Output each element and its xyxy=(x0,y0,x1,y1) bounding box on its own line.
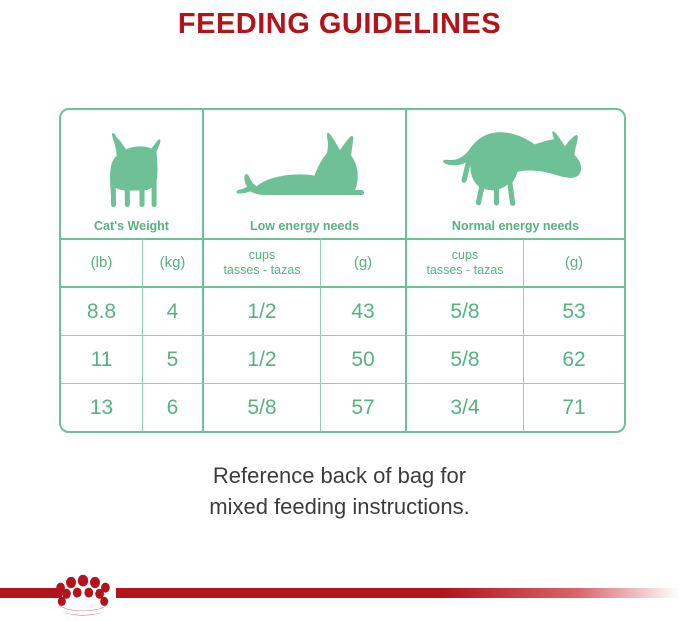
table-header-row: Cat's Weight Low energy needs xyxy=(61,110,624,238)
cell-kg: 6 xyxy=(142,383,202,431)
brand-bar-right-segment xyxy=(116,588,679,598)
table-row: 11 5 1/2 50 5/8 62 xyxy=(61,335,624,383)
walking-cat-icon xyxy=(441,131,591,211)
unit-low-cups-line2: tasses - tazas xyxy=(204,263,320,278)
table-row: 13 6 5/8 57 3/4 71 xyxy=(61,383,624,431)
cell-lb: 13 xyxy=(61,383,142,431)
page-title: FEEDING GUIDELINES xyxy=(0,0,679,42)
unit-cell-normal-grams: (g) xyxy=(523,238,624,286)
header-cell-low-energy: Low energy needs xyxy=(202,110,405,238)
cell-lb: 8.8 xyxy=(61,286,142,335)
feeding-guidelines-table: Cat's Weight Low energy needs xyxy=(59,108,622,432)
footnote: Reference back of bag for mixed feeding … xyxy=(0,460,679,522)
cell-kg: 5 xyxy=(142,335,202,383)
cell-low-cups: 1/2 xyxy=(202,335,320,383)
cell-low-grams: 57 xyxy=(320,383,405,431)
unit-cell-low-grams: (g) xyxy=(320,238,405,286)
cell-normal-grams: 62 xyxy=(523,335,624,383)
header-label-low-energy: Low energy needs xyxy=(250,219,359,233)
cell-lb: 11 xyxy=(61,335,142,383)
cell-kg: 4 xyxy=(142,286,202,335)
table-row: 8.8 4 1/2 43 5/8 53 xyxy=(61,286,624,335)
unit-cell-normal-cups: cups tasses - tazas xyxy=(405,238,523,286)
header-cell-cats-weight: Cat's Weight xyxy=(61,110,202,238)
header-label-cats-weight: Cat's Weight xyxy=(94,219,169,233)
cell-low-cups: 1/2 xyxy=(202,286,320,335)
header-label-normal-energy: Normal energy needs xyxy=(452,219,579,233)
cell-normal-cups: 5/8 xyxy=(405,286,523,335)
cell-low-grams: 43 xyxy=(320,286,405,335)
cell-normal-grams: 53 xyxy=(523,286,624,335)
cell-normal-cups: 3/4 xyxy=(405,383,523,431)
unit-cell-kg: (kg) xyxy=(142,238,202,286)
cell-low-cups: 5/8 xyxy=(202,383,320,431)
unit-cell-lb: (lb) xyxy=(61,238,142,286)
header-cell-normal-energy: Normal energy needs xyxy=(405,110,624,238)
cell-normal-cups: 5/8 xyxy=(405,335,523,383)
cell-normal-grams: 71 xyxy=(523,383,624,431)
brand-bar xyxy=(0,568,679,616)
footnote-line-2: mixed feeding instructions. xyxy=(0,491,679,522)
unit-normal-cups-line1: cups xyxy=(407,248,523,263)
unit-low-cups-line1: cups xyxy=(204,248,320,263)
royal-canin-crown-icon xyxy=(48,570,118,616)
table-units-row: (lb) (kg) cups tasses - tazas (g) cups t… xyxy=(61,238,624,286)
cell-low-grams: 50 xyxy=(320,335,405,383)
footnote-line-1: Reference back of bag for xyxy=(0,460,679,491)
lying-cat-icon xyxy=(235,131,375,211)
unit-normal-cups-line2: tasses - tazas xyxy=(407,263,523,278)
standing-cat-icon xyxy=(94,131,170,211)
unit-cell-low-cups: cups tasses - tazas xyxy=(202,238,320,286)
